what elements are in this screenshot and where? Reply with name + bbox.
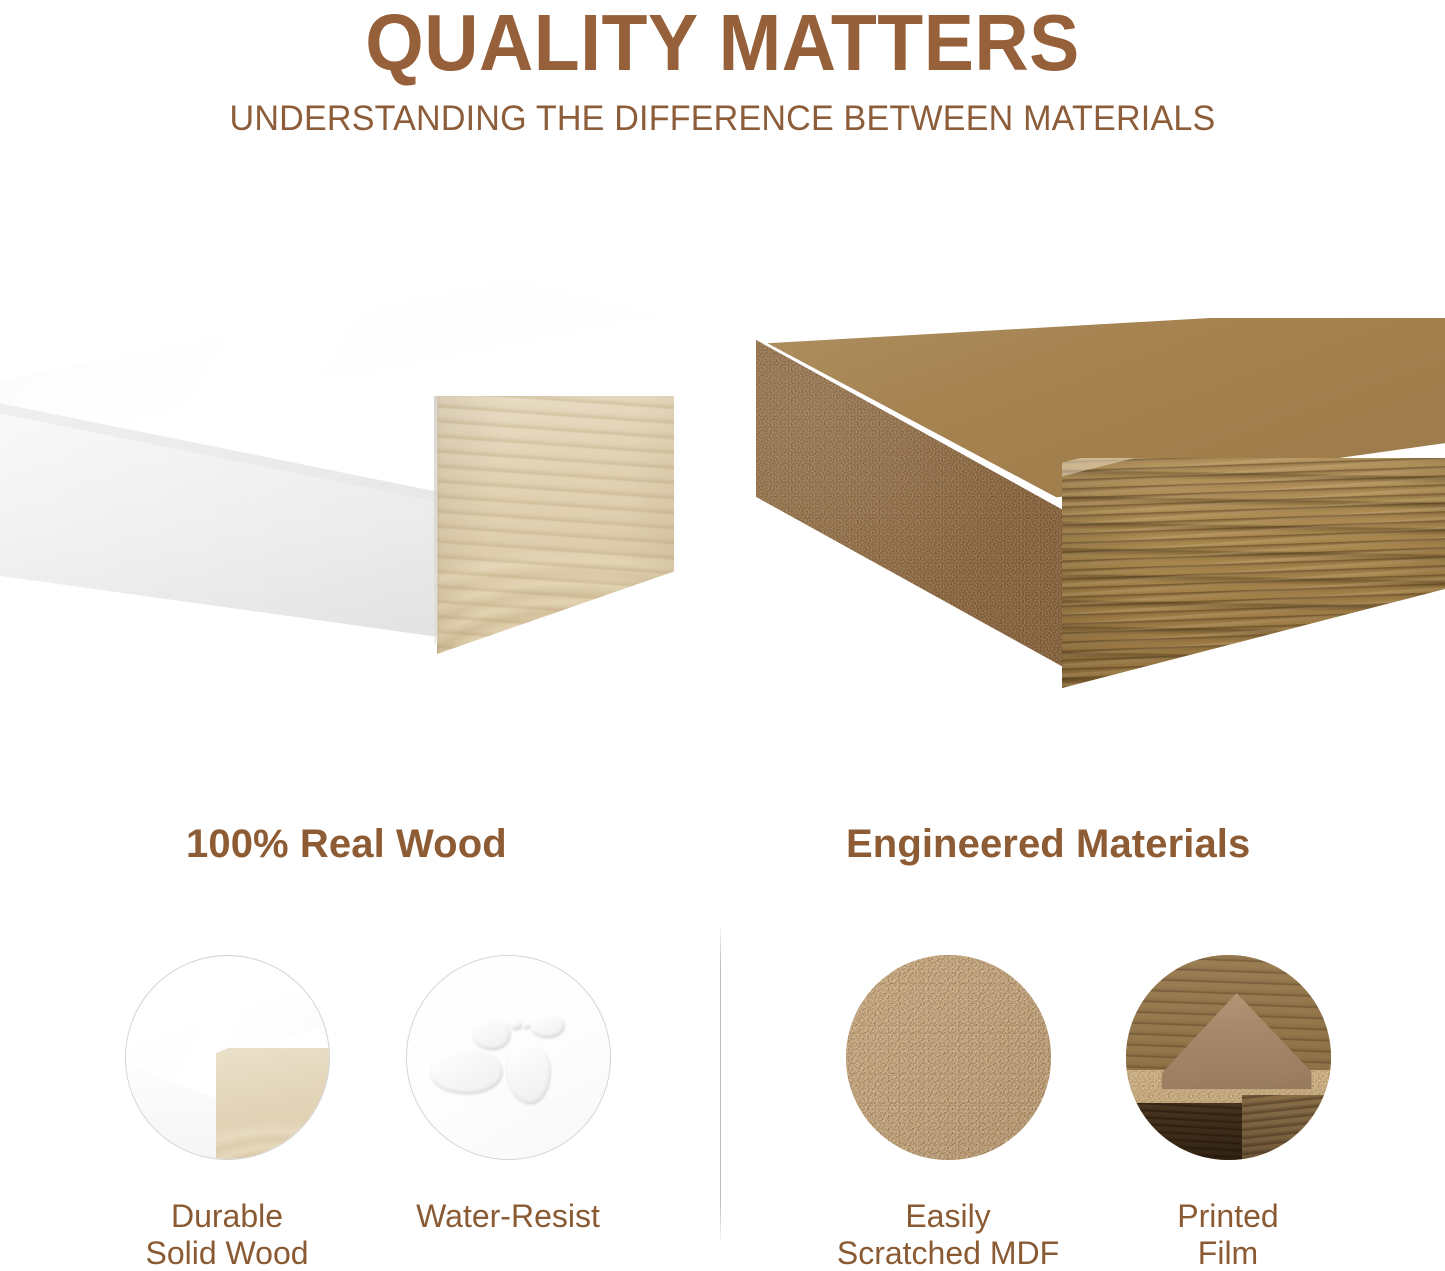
board-right-edge bbox=[1242, 1095, 1331, 1160]
mdf-front-shading bbox=[1062, 458, 1445, 688]
wood-end-grain-shading bbox=[437, 396, 674, 654]
water-droplet bbox=[531, 1014, 565, 1038]
feature-label: Printed Film bbox=[1098, 1198, 1358, 1271]
water-droplets-icon bbox=[406, 955, 611, 1160]
solid-wood-shelf-image bbox=[0, 270, 730, 690]
mdf-particle-surface bbox=[846, 955, 1051, 1160]
cutaway-end-grain bbox=[216, 1048, 330, 1160]
dark-board-edge bbox=[1126, 1103, 1244, 1160]
feature-durable-solid-wood: Durable Solid Wood bbox=[97, 955, 357, 1271]
water-droplet bbox=[511, 1020, 522, 1030]
page-title: QUALITY MATTERS bbox=[43, 0, 1401, 84]
white-shelf-cutaway-icon bbox=[125, 955, 330, 1160]
real-wood-heading: 100% Real Wood bbox=[186, 822, 507, 867]
mdf-particle-texture-icon bbox=[846, 955, 1051, 1160]
feature-label: Durable Solid Wood bbox=[97, 1198, 357, 1271]
infographic-page: QUALITY MATTERS UNDERSTANDING THE DIFFER… bbox=[0, 0, 1445, 1271]
droplet-surface bbox=[407, 956, 610, 1159]
feature-label: Easily Scratched MDF bbox=[818, 1198, 1078, 1271]
water-droplet bbox=[473, 1018, 511, 1050]
shelf-corner-edge bbox=[434, 396, 438, 644]
page-subtitle: UNDERSTANDING THE DIFFERENCE BETWEEN MAT… bbox=[29, 84, 1416, 137]
engineered-materials-heading: Engineered Materials bbox=[846, 822, 1250, 867]
mdf-shelf-image bbox=[752, 318, 1445, 718]
feature-easily-scratched-mdf: Easily Scratched MDF bbox=[818, 955, 1078, 1271]
water-droplet bbox=[523, 1022, 530, 1029]
feature-printed-film: Printed Film bbox=[1098, 955, 1358, 1271]
feature-label: Water-Resist bbox=[378, 1198, 638, 1235]
peeling-printed-film-icon bbox=[1126, 955, 1331, 1160]
hero-product-comparison bbox=[0, 250, 1445, 720]
shelf-front-face bbox=[0, 390, 460, 640]
feature-water-resist: Water-Resist bbox=[378, 955, 638, 1235]
section-divider bbox=[720, 928, 721, 1240]
header: QUALITY MATTERS UNDERSTANDING THE DIFFER… bbox=[0, 0, 1445, 137]
